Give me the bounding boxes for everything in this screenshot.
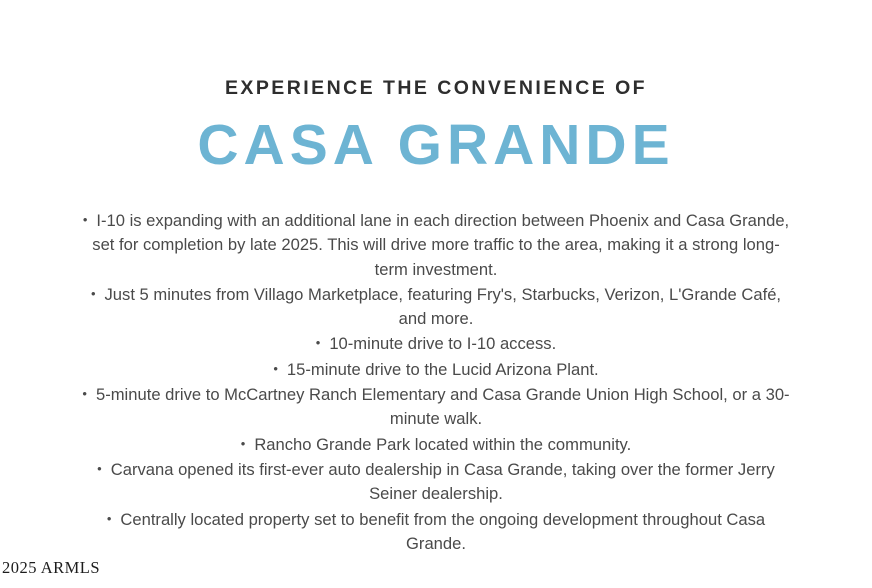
list-item-text: 5-minute drive to McCartney Ranch Elemen…	[96, 385, 790, 428]
bullet-dot-icon: •	[97, 461, 111, 476]
eyebrow-text: EXPERIENCE THE CONVENIENCE OF	[0, 78, 872, 99]
list-item: •Just 5 minutes from Villago Marketplace…	[76, 282, 796, 332]
list-item-text: Carvana opened its first-ever auto deale…	[111, 460, 775, 503]
list-item: •5-minute drive to McCartney Ranch Eleme…	[76, 382, 796, 432]
list-item-text: Just 5 minutes from Villago Marketplace,…	[105, 285, 782, 328]
list-item: •Centrally located property set to benef…	[76, 507, 796, 557]
bullet-dot-icon: •	[83, 212, 97, 227]
list-item-text: Rancho Grande Park located within the co…	[254, 435, 631, 454]
bullet-dot-icon: •	[107, 511, 121, 526]
watermark: 2025 ARMLS	[2, 558, 100, 578]
bullet-dot-icon: •	[241, 436, 255, 451]
list-item-text: I-10 is expanding with an additional lan…	[92, 211, 789, 279]
page-title: CASA GRANDE	[0, 113, 872, 179]
list-item: •Rancho Grande Park located within the c…	[76, 432, 796, 457]
list-item-text: 15-minute drive to the Lucid Arizona Pla…	[287, 360, 599, 379]
list-item: •10-minute drive to I-10 access.	[76, 331, 796, 356]
bullet-dot-icon: •	[91, 286, 105, 301]
bullet-dot-icon: •	[316, 335, 330, 350]
header-block: EXPERIENCE THE CONVENIENCE OF CASA GRAND…	[0, 78, 872, 179]
bullet-dot-icon: •	[273, 361, 287, 376]
list-item: •Carvana opened its first-ever auto deal…	[76, 457, 796, 507]
list-item-text: Centrally located property set to benefi…	[120, 510, 765, 553]
list-item-text: 10-minute drive to I-10 access.	[329, 334, 556, 353]
bullet-dot-icon: •	[82, 386, 96, 401]
list-item: •I-10 is expanding with an additional la…	[76, 208, 796, 282]
bullet-list: •I-10 is expanding with an additional la…	[76, 208, 796, 556]
list-item: •15-minute drive to the Lucid Arizona Pl…	[76, 357, 796, 382]
listing-flyer-slide: EXPERIENCE THE CONVENIENCE OF CASA GRAND…	[0, 0, 872, 588]
